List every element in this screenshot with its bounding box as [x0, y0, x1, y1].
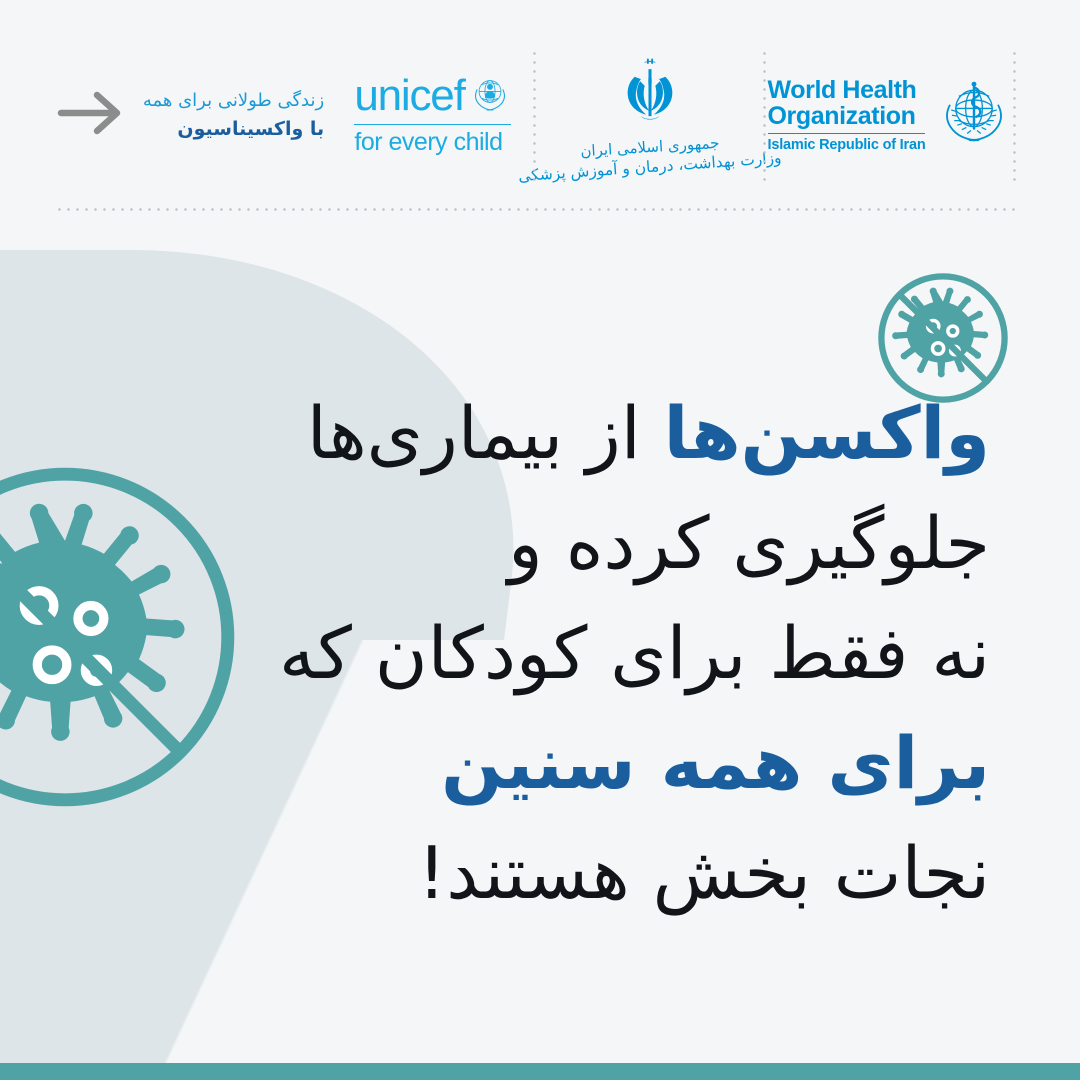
- poster-canvas: World Health Organization Islamic Republ…: [0, 0, 1080, 1080]
- header-dotted-separator: [1013, 49, 1016, 181]
- iran-emblem-icon: [604, 111, 696, 130]
- unicef-lockup: unicef: [354, 73, 510, 158]
- headline-line-4: برای همه سنین: [110, 708, 990, 818]
- arrow-right-icon: [55, 87, 127, 143]
- slogan-lockup: زندگی طولانی برای همه با واکسیناسیون: [55, 87, 330, 143]
- slogan-cell: زندگی طولانی برای همه با واکسیناسیون: [55, 45, 330, 185]
- unicef-wordmark: unicef: [354, 74, 464, 118]
- headline-line-1-rest: از بیماری‌ها: [307, 391, 664, 475]
- who-lockup: World Health Organization Islamic Republ…: [768, 75, 1013, 155]
- headline-block: واکسن‌ها از بیماری‌ها جلوگیری کرده و نه …: [110, 378, 990, 928]
- who-title-line1: World Health: [768, 77, 926, 103]
- header-bottom-dotted-rule: [55, 208, 1017, 211]
- slogan-line2: با واکسیناسیون: [143, 115, 324, 143]
- header-logo-row: World Health Organization Islamic Republ…: [55, 45, 1015, 185]
- unicef-top-row: unicef: [354, 73, 510, 119]
- unicef-tagline: for every child: [354, 128, 510, 157]
- who-emblem-icon: [936, 75, 1012, 155]
- slogan-line1: زندگی طولانی برای همه: [143, 87, 324, 115]
- unicef-globe-emblem-icon: [469, 73, 511, 119]
- who-text-block: World Health Organization Islamic Republ…: [768, 77, 926, 154]
- header-dotted-separator: [533, 49, 536, 181]
- headline-line-2: جلوگیری کرده و: [110, 488, 990, 598]
- unicef-logo-cell: unicef: [330, 45, 535, 185]
- slogan-text-block: زندگی طولانی برای همه با واکسیناسیون: [143, 87, 324, 143]
- who-divider-rule: [768, 133, 926, 135]
- ministry-lockup: جمهوری اسلامی ایران وزارت بهداشت، درمان …: [518, 54, 782, 176]
- who-logo-cell: World Health Organization Islamic Republ…: [765, 45, 1015, 185]
- unicef-divider-rule: [354, 124, 510, 126]
- who-subtitle: Islamic Republic of Iran: [768, 137, 926, 153]
- who-title-line2: Organization: [768, 103, 926, 129]
- header-bar: World Health Organization Islamic Republ…: [0, 0, 1080, 215]
- bottom-accent-bar: [0, 1063, 1080, 1080]
- ministry-logo-cell: جمهوری اسلامی ایران وزارت بهداشت، درمان …: [535, 45, 765, 185]
- headline-emphasis-vaccines: واکسن‌ها: [664, 391, 990, 475]
- header-dotted-separator: [763, 49, 766, 181]
- headline-line-1: واکسن‌ها از بیماری‌ها: [110, 378, 990, 488]
- headline-line-5: نجات بخش هستند!: [110, 818, 990, 928]
- headline-line-3: نه فقط برای کودکان که: [110, 598, 990, 708]
